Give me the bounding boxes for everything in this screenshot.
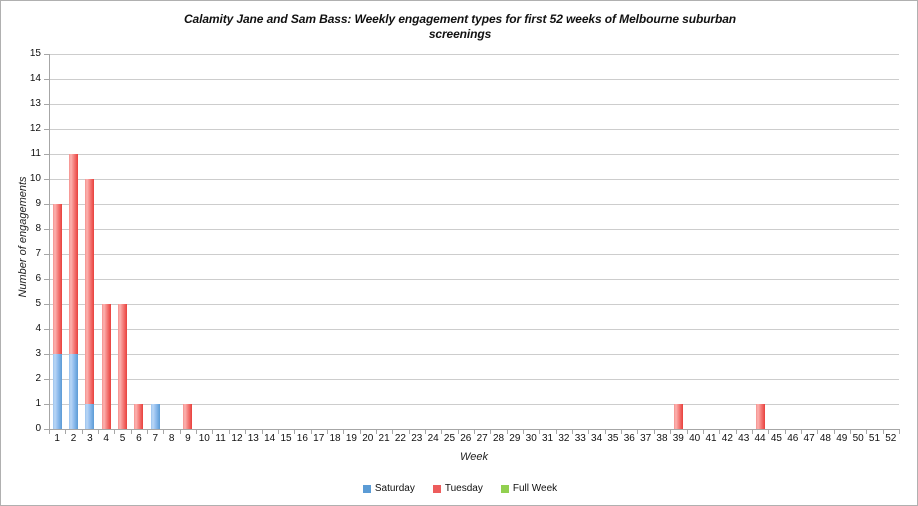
bar-tuesday-week-4 (102, 304, 111, 429)
y-tick-mark (44, 179, 49, 180)
y-tick-label: 12 (5, 124, 41, 134)
x-tick-mark (572, 430, 573, 434)
x-axis-title: Week (49, 451, 899, 463)
y-tick-mark (44, 79, 49, 80)
x-tick-mark (539, 430, 540, 434)
bar-tuesday-week-5 (118, 304, 127, 429)
x-tick-mark (899, 430, 900, 434)
y-tick-mark (44, 104, 49, 105)
y-tick-label: 13 (5, 99, 41, 109)
x-tick-mark (866, 430, 867, 434)
bar-tuesday-week-44 (756, 404, 765, 429)
chart-legend: SaturdayTuesdayFull Week (1, 483, 918, 494)
x-tick-mark (360, 430, 361, 434)
y-tick-mark (44, 304, 49, 305)
gridline (49, 204, 899, 205)
gridline (49, 229, 899, 230)
x-tick-mark (441, 430, 442, 434)
bar-tuesday-week-39 (674, 404, 683, 429)
chart-title: Calamity Jane and Sam Bass: Weekly engag… (101, 12, 819, 42)
x-tick-mark (212, 430, 213, 434)
y-tick-label: 5 (5, 299, 41, 309)
x-tick-mark (114, 430, 115, 434)
x-tick-mark (883, 430, 884, 434)
x-tick-mark (752, 430, 753, 434)
x-tick-mark (294, 430, 295, 434)
x-tick-mark (65, 430, 66, 434)
gridline (49, 104, 899, 105)
x-tick-mark (850, 430, 851, 434)
x-tick-mark (556, 430, 557, 434)
y-tick-label: 9 (5, 199, 41, 209)
x-tick-mark (654, 430, 655, 434)
x-tick-mark (131, 430, 132, 434)
x-tick-mark (637, 430, 638, 434)
y-tick-label: 2 (5, 374, 41, 384)
bar-tuesday-week-6 (134, 404, 143, 429)
x-tick-mark (163, 430, 164, 434)
x-tick-mark (736, 430, 737, 434)
y-tick-label: 14 (5, 74, 41, 84)
gridline (49, 154, 899, 155)
legend-swatch-icon (501, 485, 509, 493)
legend-swatch-icon (363, 485, 371, 493)
x-tick-mark (588, 430, 589, 434)
legend-item-saturday[interactable]: Saturday (363, 483, 415, 494)
x-tick-mark (834, 430, 835, 434)
y-tick-label: 3 (5, 349, 41, 359)
y-tick-mark (44, 354, 49, 355)
y-tick-mark (44, 254, 49, 255)
gridline (49, 54, 899, 55)
y-tick-label: 4 (5, 324, 41, 334)
gridline (49, 304, 899, 305)
gridline (49, 254, 899, 255)
gridline (49, 329, 899, 330)
y-tick-label: 15 (5, 49, 41, 59)
gridline (49, 279, 899, 280)
legend-label: Full Week (513, 483, 557, 494)
x-tick-mark (785, 430, 786, 434)
y-tick-label: 7 (5, 249, 41, 259)
gridline (49, 354, 899, 355)
bar-saturday-week-3 (85, 404, 94, 429)
y-tick-mark (44, 379, 49, 380)
y-tick-mark (44, 154, 49, 155)
bar-saturday-week-7 (151, 404, 160, 429)
x-tick-mark (98, 430, 99, 434)
y-tick-mark (44, 204, 49, 205)
y-tick-label: 6 (5, 274, 41, 284)
x-tick-mark (180, 430, 181, 434)
y-tick-mark (44, 229, 49, 230)
x-tick-mark (687, 430, 688, 434)
y-tick-label: 10 (5, 174, 41, 184)
chart-title-line-2: screenings (101, 27, 819, 42)
x-tick-mark (474, 430, 475, 434)
x-tick-mark (376, 430, 377, 434)
y-tick-mark (44, 279, 49, 280)
bar-tuesday-week-1 (53, 204, 62, 354)
x-tick-mark (229, 430, 230, 434)
x-tick-mark (507, 430, 508, 434)
y-tick-mark (44, 129, 49, 130)
y-tick-label: 8 (5, 224, 41, 234)
legend-item-full-week[interactable]: Full Week (501, 483, 557, 494)
gridline (49, 379, 899, 380)
chart-title-line-1: Calamity Jane and Sam Bass: Weekly engag… (101, 12, 819, 27)
y-tick-mark (44, 54, 49, 55)
x-tick-mark (311, 430, 312, 434)
gridline (49, 79, 899, 80)
x-tick-mark (523, 430, 524, 434)
y-tick-label: 11 (5, 149, 41, 159)
bar-tuesday-week-3 (85, 179, 94, 404)
x-tick-mark (343, 430, 344, 434)
x-tick-mark (82, 430, 83, 434)
y-tick-mark (44, 329, 49, 330)
x-tick-mark (817, 430, 818, 434)
x-tick-mark (458, 430, 459, 434)
x-tick-mark (768, 430, 769, 434)
x-tick-mark (703, 430, 704, 434)
gridline (49, 179, 899, 180)
y-tick-label: 0 (5, 424, 41, 434)
chart-screenshot: Calamity Jane and Sam Bass: Weekly engag… (0, 0, 918, 506)
y-axis-line (49, 54, 50, 430)
y-tick-label: 1 (5, 399, 41, 409)
y-tick-mark (44, 404, 49, 405)
x-tick-mark (147, 430, 148, 434)
bar-saturday-week-1 (53, 354, 62, 429)
plot-area (49, 54, 899, 429)
x-tick-mark (327, 430, 328, 434)
x-tick-mark (245, 430, 246, 434)
x-tick-mark (409, 430, 410, 434)
x-tick-mark (425, 430, 426, 434)
x-tick-label: 52 (881, 433, 901, 444)
x-tick-mark (801, 430, 802, 434)
x-tick-mark (605, 430, 606, 434)
legend-label: Saturday (375, 483, 415, 494)
x-tick-mark (670, 430, 671, 434)
bar-tuesday-week-2 (69, 154, 78, 354)
bar-saturday-week-2 (69, 354, 78, 429)
gridline (49, 129, 899, 130)
x-tick-mark (719, 430, 720, 434)
legend-item-tuesday[interactable]: Tuesday (433, 483, 483, 494)
legend-label: Tuesday (445, 483, 483, 494)
x-tick-mark (278, 430, 279, 434)
x-tick-mark (490, 430, 491, 434)
gridline (49, 404, 899, 405)
legend-swatch-icon (433, 485, 441, 493)
x-tick-mark (392, 430, 393, 434)
bar-tuesday-week-9 (183, 404, 192, 429)
x-tick-mark (262, 430, 263, 434)
x-tick-mark (621, 430, 622, 434)
x-tick-mark (196, 430, 197, 434)
x-tick-mark (49, 430, 50, 434)
